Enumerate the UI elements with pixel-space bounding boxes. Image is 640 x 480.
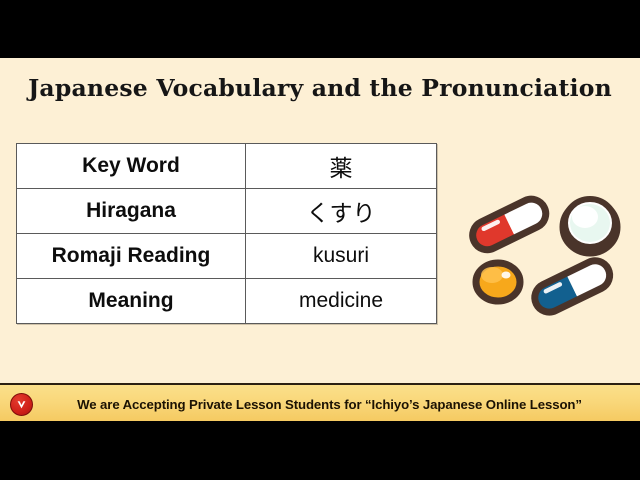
letterbox-bar-top	[0, 0, 640, 58]
orange-round-pill-icon	[476, 263, 520, 301]
vocabulary-table: Key Word 薬 Hiragana くすり Romaji Reading k…	[16, 143, 437, 324]
row-value-romaji-reading: kusuri	[246, 234, 437, 279]
row-label-meaning: Meaning	[17, 279, 246, 324]
pills-illustration	[462, 184, 632, 324]
row-value-hiragana: くすり	[246, 189, 437, 234]
table-row: Hiragana くすり	[17, 189, 437, 234]
page-title: Japanese Vocabulary and the Pronunciatio…	[0, 74, 640, 102]
table-row: Romaji Reading kusuri	[17, 234, 437, 279]
row-label-key-word: Key Word	[17, 144, 246, 189]
white-round-tablet-icon	[563, 199, 617, 253]
row-label-hiragana: Hiragana	[17, 189, 246, 234]
check-badge-icon	[10, 393, 33, 416]
row-value-key-word: 薬	[246, 144, 437, 189]
row-value-meaning: medicine	[246, 279, 437, 324]
letterbox-bar-bottom	[0, 421, 640, 480]
row-label-romaji-reading: Romaji Reading	[17, 234, 246, 279]
red-white-capsule-icon	[468, 194, 551, 254]
promo-banner[interactable]: We are Accepting Private Lesson Students…	[0, 383, 640, 423]
blue-white-capsule-icon	[530, 256, 615, 317]
slide-root: Japanese Vocabulary and the Pronunciatio…	[0, 0, 640, 480]
slide-canvas: Japanese Vocabulary and the Pronunciatio…	[0, 58, 640, 421]
promo-banner-text: We are Accepting Private Lesson Students…	[33, 397, 640, 412]
table-row: Meaning medicine	[17, 279, 437, 324]
table-row: Key Word 薬	[17, 144, 437, 189]
